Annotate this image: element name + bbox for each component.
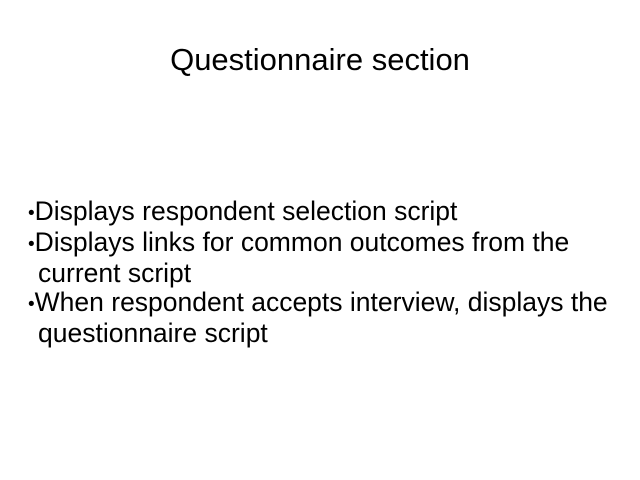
- bullet-list-item: •Displays links for common outcomes from…: [28, 228, 608, 288]
- slide-title: Questionnaire section: [0, 40, 640, 80]
- bullet-item-text: Displays links for common outcomes from …: [35, 227, 570, 288]
- bullet-point-icon: •: [28, 294, 35, 315]
- bullet-item-text: Displays respondent selection script: [35, 196, 458, 226]
- bullet-list-item: •Displays respondent selection script: [28, 197, 608, 228]
- bullet-point-icon: •: [28, 234, 35, 255]
- bullet-list-item: •When respondent accepts interview, disp…: [28, 288, 608, 348]
- slide-body-bullet-list: •Displays respondent selection script •D…: [28, 197, 608, 348]
- bullet-item-text: When respondent accepts interview, displ…: [35, 287, 608, 348]
- bullet-point-icon: •: [28, 203, 35, 224]
- presentation-slide: Questionnaire section •Displays responde…: [0, 0, 640, 480]
